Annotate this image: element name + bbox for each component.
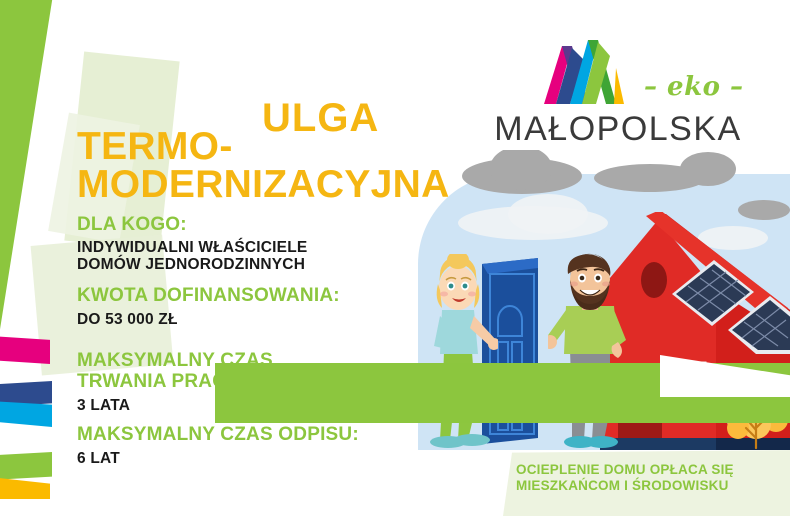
cloud-white-2-icon	[508, 194, 588, 234]
cloud-gray-3-icon	[680, 152, 736, 186]
poster-root: – eko – MAŁOPOLSKA ULGA TERMO- MODERNIZA…	[0, 0, 790, 526]
info-value: DO 53 000 ZŁ	[77, 311, 340, 328]
info-value: 3 LATA	[77, 397, 273, 414]
ribbon-stripe-green-decor	[0, 452, 52, 480]
ribbon-stripe-cyan-decor	[0, 401, 52, 427]
info-block-dla-kogo: DLA KOGO: INDYWIDUALNI WŁAŚCICIELE DOMÓW…	[77, 214, 307, 273]
info-heading: DLA KOGO:	[77, 214, 307, 235]
info-value: 6 LAT	[77, 450, 359, 467]
info-heading: KWOTA DOFINANSOWANIA:	[77, 285, 340, 306]
bearded-man-character	[548, 250, 634, 450]
info-block-kwota-dofinansowania: KWOTA DOFINANSOWANIA: DO 53 000 ZŁ	[77, 285, 340, 328]
top-left-green-band-decor	[0, 0, 55, 396]
info-heading: MAKSYMALNY CZAS ODPISU:	[77, 424, 359, 445]
ribbon-stripe-magenta-decor	[0, 336, 50, 364]
caption-text: OCIEPLENIE DOMU OPŁACA SIĘ MIESZKAŃCOM I…	[516, 462, 790, 494]
info-block-maksymalny-czas-trwania-prac: MAKSYMALNY CZAS TRWANIA PRAC: 3 LATA	[77, 350, 273, 414]
malopolska-eko-logo: – eko – MAŁOPOLSKA	[492, 26, 744, 154]
logo-eko-tagline: – eko –	[644, 72, 744, 102]
info-heading: MAKSYMALNY CZAS TRWANIA PRAC:	[77, 350, 273, 392]
headline-termomodernizacyjna: TERMO- MODERNIZACYJNA	[77, 128, 450, 204]
blonde-woman-character	[420, 254, 498, 450]
ribbon-stripe-darkblue-decor	[0, 381, 52, 407]
malopolska-m-mark-icon	[532, 26, 644, 104]
logo-wordmark: MAŁOPOLSKA	[492, 110, 744, 149]
info-value: INDYWIDUALNI WŁAŚCICIELE DOMÓW JEDNORODZ…	[77, 239, 307, 273]
yellow-bush-icon	[726, 388, 790, 454]
illustration-scene: OCIEPLENIE DOMU OPŁACA SIĘ MIESZKAŃCOM I…	[398, 150, 790, 526]
ribbon-stripe-yellow-decor	[0, 477, 50, 499]
info-block-maksymalny-czas-odpisu: MAKSYMALNY CZAS ODPISU: 6 LAT	[77, 424, 359, 467]
